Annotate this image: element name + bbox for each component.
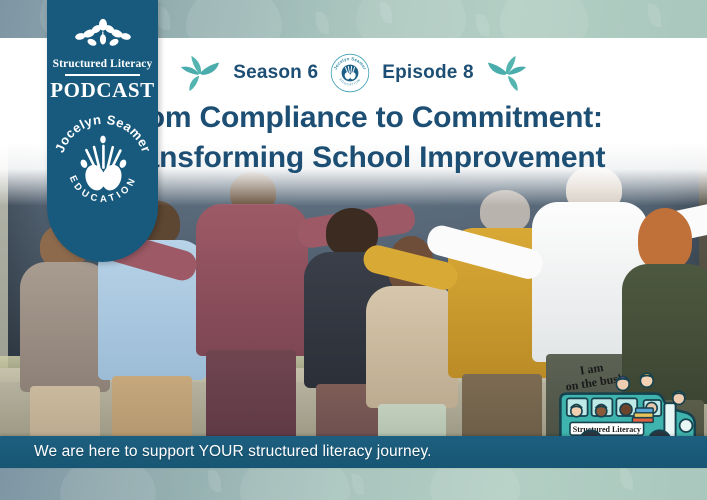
episode-label: Episode 8 [382,62,474,84]
decorative-blob [356,0,466,40]
podcast-ribbon: Structured Literacy PODCAST Jocely [47,0,158,262]
decorative-petal [476,14,489,36]
jocelyn-seamer-education-logo-icon: Jocelyn Seamer EDUCATION [330,53,370,93]
tree-seal-icon: Jocelyn Seamer EDUCATION [51,110,155,214]
bottom-background-strip [0,466,707,500]
ribbon-eyebrow: Structured Literacy [47,58,158,70]
decorative-blob [430,466,520,500]
ribbon-title: PODCAST [47,78,158,103]
decorative-blob [500,0,588,40]
decorative-petal [156,6,170,30]
decorative-blob [186,0,282,40]
leaf-sprig-icon [179,53,221,93]
season-label: Season 6 [233,62,318,84]
decorative-blob [60,466,156,500]
tagline-banner: We are here to support YOUR structured l… [0,436,707,468]
leaf-sprig-icon [486,53,528,93]
leaf-sprig-icon [70,18,136,52]
podcast-episode-cover: Season 6 Jocelyn Seamer EDUCATION [0,0,707,500]
ribbon-divider [65,74,140,76]
episode-title-line-1: From Compliance to Commitment: [117,101,603,134]
decorative-petal [352,474,364,495]
decorative-petal [648,4,661,27]
decorative-petal [620,468,633,490]
decorative-petal [316,12,329,34]
decorative-petal [208,470,221,492]
tagline-text: We are here to support YOUR structured l… [34,443,432,461]
decorative-blob [240,466,350,500]
